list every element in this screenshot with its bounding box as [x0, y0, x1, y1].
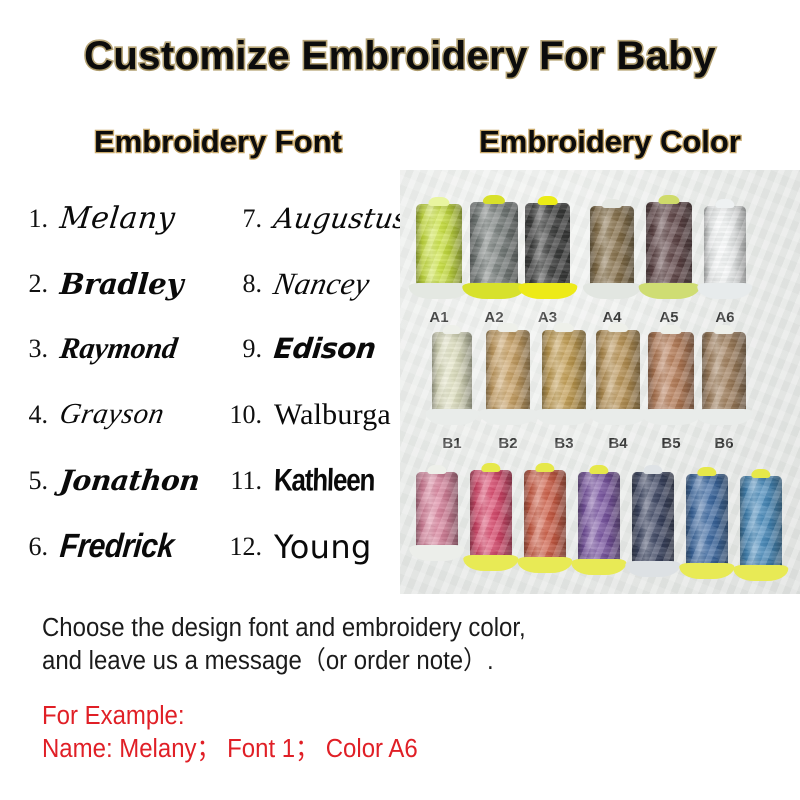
instructions-line-1: Choose the design font and embroidery co… [42, 612, 719, 645]
embroidery-color-chart-photo: A1 A2 A3 A4 A5 [400, 170, 800, 594]
spool-cap [498, 323, 518, 332]
spool-base [641, 409, 702, 425]
thread-spool-a6[interactable]: A6 [704, 206, 746, 288]
list-item[interactable]: 9. Edison [200, 316, 400, 381]
spool-cone [486, 330, 530, 414]
spool-cap [608, 323, 628, 332]
spool-base [535, 409, 593, 425]
thread-color-label: C7 [751, 593, 770, 594]
font-option-sample: Bradley [47, 267, 201, 301]
list-item[interactable]: 3. Raymond [4, 316, 200, 381]
thread-color-label: C3 [535, 593, 554, 594]
font-option-sample: Grayson [45, 398, 203, 431]
spool-cap [535, 463, 554, 472]
spool-base [571, 559, 626, 575]
spool-cone [646, 202, 692, 288]
spool-base [409, 283, 470, 299]
spool-cap [428, 197, 449, 206]
spool-cap [658, 195, 679, 204]
font-option-sample: Augustus [259, 202, 410, 235]
font-option-number: 12. [200, 532, 262, 562]
thread-spool-c5[interactable]: C5 [632, 472, 674, 566]
spool-cone [525, 203, 570, 288]
list-item[interactable]: 12. Young [200, 514, 400, 579]
spool-cap [697, 467, 716, 476]
page-title: Customize Embroidery For Baby [0, 34, 800, 79]
spool-cone [648, 332, 694, 414]
spool-base [426, 409, 479, 425]
spool-cap [715, 199, 734, 208]
spool-cone [470, 470, 512, 560]
thread-color-label: C2 [481, 593, 500, 594]
thread-spool-a3[interactable]: A3 [525, 203, 570, 288]
list-item[interactable]: 1. Melany [4, 186, 200, 251]
font-option-sample: Kathleen [261, 462, 400, 499]
spool-base [625, 561, 680, 577]
list-item[interactable]: 5. Jonathon [4, 448, 200, 513]
spool-base [679, 563, 734, 579]
thread-spool-c3[interactable]: C3 [524, 470, 566, 562]
list-item[interactable]: 11. Kathleen [200, 448, 400, 513]
spool-base [462, 283, 525, 299]
spool-cap [714, 325, 734, 334]
spool-base [518, 283, 577, 299]
spool-cap [751, 469, 770, 478]
thread-spool-b6[interactable]: B6 [702, 332, 746, 414]
thread-color-label: C1 [427, 593, 446, 594]
thread-color-row-a: A1 A2 A3 A4 A5 [400, 178, 800, 310]
font-option-sample: Fredrick [46, 527, 201, 565]
spool-base [733, 565, 788, 581]
thread-color-label: C6 [697, 593, 716, 594]
thread-color-label: C4 [589, 593, 608, 594]
font-option-sample: Raymond [46, 332, 203, 366]
spool-base [695, 409, 753, 425]
font-list-column-left: 1. Melany 2. Bradley 3. Raymond 4. Grays… [4, 186, 200, 578]
spool-cone [686, 474, 728, 568]
font-option-number: 6. [4, 532, 48, 562]
example-block: For Example: Name: Melany； Font 1； Color… [42, 700, 719, 766]
font-option-number: 5. [4, 466, 48, 496]
spool-cap [427, 465, 446, 474]
font-option-sample: Edison [260, 332, 401, 365]
spool-cone [432, 332, 472, 414]
list-item[interactable]: 8. Nancey [200, 251, 400, 316]
font-option-number: 3. [4, 334, 48, 364]
spool-cap [483, 195, 505, 204]
thread-color-label: C5 [643, 593, 662, 594]
embroidery-font-list: 1. Melany 2. Bradley 3. Raymond 4. Grays… [0, 186, 400, 578]
spool-cone [590, 206, 634, 288]
font-option-number: 8. [200, 269, 262, 299]
spool-base [517, 557, 572, 573]
example-heading: For Example: [42, 700, 719, 733]
spool-cone [632, 472, 674, 566]
font-option-number: 7. [200, 204, 262, 234]
font-option-number: 9. [200, 334, 262, 364]
spool-cone [416, 204, 462, 288]
thread-spool-c1[interactable]: C1 [416, 472, 458, 550]
list-item[interactable]: 10. Walburga [200, 382, 400, 447]
font-option-number: 4. [4, 400, 48, 430]
spool-base [479, 409, 537, 425]
font-option-sample: Walburga [262, 398, 400, 432]
thread-spool-b1[interactable]: B1 [432, 332, 472, 414]
spool-base [697, 283, 752, 299]
spool-cap [481, 463, 500, 472]
spool-cap [643, 465, 662, 474]
spool-cone [542, 330, 586, 414]
font-option-sample: Melany [46, 201, 202, 236]
font-option-sample: Young [262, 528, 400, 566]
spool-cap [589, 465, 608, 474]
instructions-line-2: and leave us a message（or order note）. [42, 645, 719, 678]
spool-cone [470, 202, 518, 288]
list-item[interactable]: 6. Fredrick [4, 514, 200, 579]
thread-spool-a1[interactable]: A1 [416, 204, 462, 288]
font-list-column-right: 7. Augustus 8. Nancey 9. Edison 10. Walb… [200, 186, 400, 578]
font-option-number: 1. [4, 204, 48, 234]
spool-base [639, 283, 700, 299]
spool-cone [740, 476, 782, 570]
thread-spool-b3[interactable]: B3 [542, 330, 586, 414]
spool-cap [554, 323, 574, 332]
spool-cap [537, 196, 558, 205]
thread-spool-b2[interactable]: B2 [486, 330, 530, 414]
font-option-number: 10. [200, 400, 262, 430]
spool-cone [596, 330, 640, 414]
thread-spool-a2[interactable]: A2 [470, 202, 518, 288]
thread-spool-a4[interactable]: A4 [590, 206, 634, 288]
instructions-block: Choose the design font and embroidery co… [42, 612, 719, 678]
list-item[interactable]: 4. Grayson [4, 382, 200, 447]
thread-spool-c4[interactable]: C4 [578, 472, 620, 564]
spool-base [583, 283, 641, 299]
spool-cap [602, 199, 622, 208]
thread-color-row-c: C1 C2 C3 C4 C5 [400, 436, 800, 594]
font-option-number: 2. [4, 269, 48, 299]
thread-spool-b5[interactable]: B5 [648, 332, 694, 414]
spool-base [409, 545, 464, 561]
spool-cone [524, 470, 566, 562]
spool-cone [578, 472, 620, 564]
embroidery-color-heading: Embroidery Color [440, 124, 780, 160]
list-item[interactable]: 2. Bradley [4, 251, 200, 316]
font-option-sample: Nancey [259, 266, 404, 302]
spool-cone [416, 472, 458, 550]
example-detail: Name: Melany； Font 1； Color A6 [42, 733, 719, 766]
spool-cone [704, 206, 746, 288]
spool-base [463, 555, 518, 571]
thread-spool-a5[interactable]: A5 [646, 202, 692, 288]
spool-base [589, 409, 647, 425]
thread-spool-b4[interactable]: B4 [596, 330, 640, 414]
spool-cap [443, 325, 461, 334]
spool-cap [660, 325, 681, 334]
spool-cone [702, 332, 746, 414]
embroidery-font-heading: Embroidery Font [48, 124, 388, 160]
font-option-number: 11. [200, 466, 262, 496]
thread-spool-c2[interactable]: C2 [470, 470, 512, 560]
list-item[interactable]: 7. Augustus [200, 186, 400, 251]
thread-spool-c7[interactable]: C7 [740, 476, 782, 570]
thread-spool-c6[interactable]: C6 [686, 474, 728, 568]
font-option-sample: Jonathon [46, 464, 202, 497]
thread-color-row-b: B1 B2 B3 B4 B5 [400, 310, 800, 436]
